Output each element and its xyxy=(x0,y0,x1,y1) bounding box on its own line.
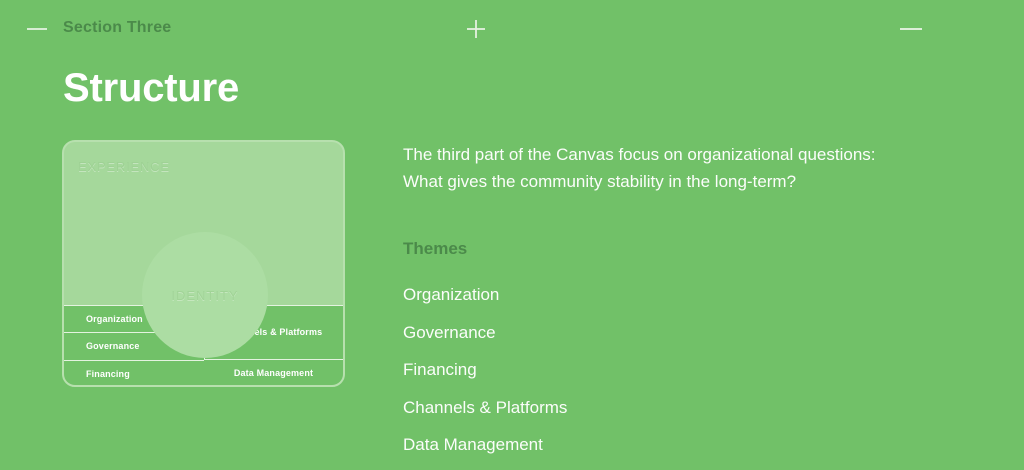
canvas-diagram: EXPERIENCE Organization Governance Finan… xyxy=(62,140,345,387)
diagram-cell-data-management: Data Management xyxy=(204,359,343,387)
intro-paragraph: The third part of the Canvas focus on or… xyxy=(403,141,963,195)
slide-root: Section Three Structure EXPERIENCE Organ… xyxy=(0,0,1024,470)
page-title: Structure xyxy=(63,66,239,110)
themes-heading: Themes xyxy=(403,239,467,259)
themes-list: Organization Governance Financing Channe… xyxy=(403,276,567,464)
list-item: Data Management xyxy=(403,426,567,464)
diagram-identity-label: IDENTITY xyxy=(171,288,238,303)
dash-icon-left xyxy=(27,28,47,30)
diagram-identity-circle: IDENTITY xyxy=(142,232,268,358)
list-item: Channels & Platforms xyxy=(403,389,567,427)
diagram-experience-label: EXPERIENCE xyxy=(78,159,170,174)
list-item: Organization xyxy=(403,276,567,314)
list-item: Financing xyxy=(403,351,567,389)
list-item: Governance xyxy=(403,314,567,352)
intro-line-1: The third part of the Canvas focus on or… xyxy=(403,141,963,168)
top-bar: Section Three xyxy=(0,0,1024,58)
plus-icon xyxy=(467,20,485,38)
diagram-cell-financing: Financing xyxy=(64,360,204,387)
intro-line-2: What gives the community stability in th… xyxy=(403,168,963,195)
dash-icon-right xyxy=(900,28,922,30)
section-label: Section Three xyxy=(63,19,171,37)
